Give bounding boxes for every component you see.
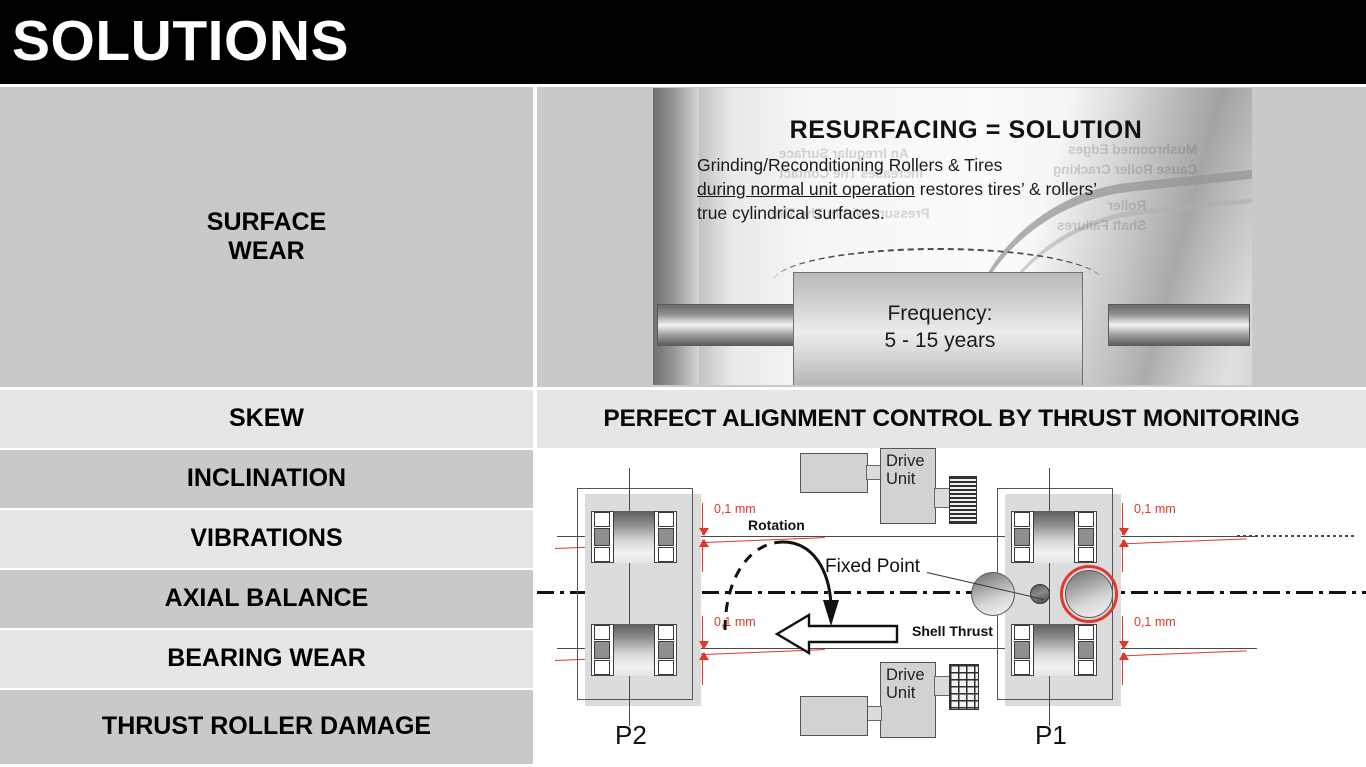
tolerance-p1-upper-arrow [1122,503,1123,535]
problem-row-bearing-wear-label: BEARING WEAR [167,644,366,674]
pier-p2-axis [629,468,630,726]
tolerance-p2-upper-arrow [702,503,703,535]
bearing-segment [594,512,609,528]
bearing-segment [658,660,673,676]
pier-p1-label: P1 [1035,720,1067,751]
alignment-control-banner-text: PERFECT ALIGNMENT CONTROL BY THRUST MONI… [603,405,1299,433]
bearing-segment [658,547,673,563]
thrust-roller-sphere-left [971,572,1015,616]
frequency-value: 5 - 15 years [809,327,1071,354]
tolerance-p1-upper-label: 0,1 mm [1134,502,1176,516]
shell-thrust-label: Shell Thrust [912,623,993,639]
bearing-segment [1014,660,1029,676]
solutions-panel: Mushroomed Edges Cause Roller Cracking R… [537,87,1366,767]
bearing-segment [658,512,673,528]
bearing-segment [1014,512,1029,528]
slide-title-bar: SOLUTIONS [0,0,1366,84]
resurfacing-emphasis: during normal unit operation [697,179,915,199]
bearing-segment [594,625,609,641]
page-title: SOLUTIONS [12,6,349,76]
tolerance-p2-lower-arrow-return [702,653,703,685]
tolerance-p2-upper-arrow-return [702,540,703,572]
tolerance-p1-lower-label: 0,1 mm [1134,615,1176,629]
problem-row-vibrations[interactable]: VIBRATIONS [0,510,533,568]
bearing-segment [658,625,673,641]
drive-unit-top-line1: Drive [886,452,931,470]
bearing-roller [1033,624,1074,676]
shell-thrust-arrow-icon [775,611,899,657]
resurfacing-scan-image: Mushroomed Edges Cause Roller Cracking R… [653,88,1252,385]
problem-row-skew[interactable]: SKEW [0,390,533,448]
motor-box-bottom [800,696,868,736]
roller-shaft-right [1108,304,1250,346]
problem-row-skew-label: SKEW [229,404,304,434]
problem-list: SURFACE WEAR SKEW INCLINATION VIBRATIONS… [0,87,533,767]
coupling-stub-bottom-left [866,706,882,721]
resurfacing-body-line-3: true cylindrical surfaces. [697,202,1237,226]
resurfacing-body: Grinding/Reconditioning Rollers & Tires … [697,154,1237,226]
resurfacing-headline: RESURFACING = SOLUTION [701,116,1231,145]
drive-unit-top-line2: Unit [886,470,931,488]
bearing-roller [1033,511,1074,563]
problem-row-bearing-wear[interactable]: BEARING WEAR [0,630,533,688]
drive-unit-top[interactable]: Drive Unit [880,448,936,524]
surface-wear-solution-block: Mushroomed Edges Cause Roller Cracking R… [537,87,1366,387]
bearing-p2-upper [591,511,677,563]
thrust-monitoring-diagram: P2 0,1 mm 0,1 mm [537,448,1366,767]
bearing-pad [594,641,609,660]
bearing-p1-lower [1011,624,1097,676]
problem-row-thrust-roller-damage[interactable]: THRUST ROLLER DAMAGE [0,690,533,764]
problem-row-axial-balance-label: AXIAL BALANCE [165,584,369,614]
bearing-pad [658,641,673,660]
resurfacing-body-line-2-rest: restores tires’ & rollers’ [915,179,1097,199]
bearing-segment [1078,547,1093,563]
tolerance-p1-lower-arrow-return [1122,653,1123,685]
slide-root: SOLUTIONS SURFACE WEAR SKEW INCLINATION … [0,0,1366,767]
gear-wheel-bottom [949,664,979,710]
bearing-pad [594,528,609,547]
bearing-segment [1014,625,1029,641]
problem-row-thrust-roller-damage-label: THRUST ROLLER DAMAGE [102,712,431,742]
problem-row-surface-wear[interactable]: SURFACE WEAR [0,87,533,387]
tolerance-p2-lower-arrow [702,616,703,648]
problem-label-line2: WEAR [207,237,326,267]
damage-highlight-ring [1060,565,1118,623]
bearing-pad [1078,641,1093,660]
roller-shaft-left [657,304,799,346]
shell-line-upper-dotted-extension [1237,535,1357,537]
bearing-segment [594,547,609,563]
resurfacing-body-line-1: Grinding/Reconditioning Rollers & Tires [697,154,1237,178]
pier-p2-label: P2 [615,720,647,751]
bearing-segment [1078,660,1093,676]
resurfacing-frequency: Frequency: 5 - 15 years [809,300,1071,355]
resurfacing-body-line-2: during normal unit operation restores ti… [697,178,1237,202]
problem-row-vibrations-label: VIBRATIONS [190,524,342,554]
drive-unit-bottom-line2: Unit [886,684,931,702]
fixed-point-marker [1030,584,1050,604]
bearing-pad [1078,528,1093,547]
problem-row-surface-wear-label: SURFACE WEAR [207,208,326,267]
bearing-segment [594,660,609,676]
bearing-p1-upper [1011,511,1097,563]
problem-row-axial-balance[interactable]: AXIAL BALANCE [0,570,533,628]
gear-wheel-top [949,476,977,524]
tolerance-p1-upper-arrow-return [1122,540,1123,572]
tolerance-p1-lower-arrow [1122,616,1123,648]
bearing-segment [1078,512,1093,528]
tolerance-p2-upper-label: 0,1 mm [714,502,756,516]
drive-unit-bottom-line1: Drive [886,666,931,684]
bearing-pad [1014,641,1029,660]
bearing-pad [658,528,673,547]
bearing-p2-lower [591,624,677,676]
motor-box-top [800,453,868,493]
alignment-control-banner: PERFECT ALIGNMENT CONTROL BY THRUST MONI… [537,390,1366,448]
bearing-pad [1014,528,1029,547]
frequency-label: Frequency: [809,300,1071,327]
bearing-roller [613,624,654,676]
problem-label-line1: SURFACE [207,208,326,238]
drive-unit-bottom[interactable]: Drive Unit [880,662,936,738]
bearing-segment [1078,625,1093,641]
problem-row-inclination[interactable]: INCLINATION [0,450,533,508]
problem-row-inclination-label: INCLINATION [187,464,346,494]
bearing-roller [613,511,654,563]
bearing-segment [1014,547,1029,563]
